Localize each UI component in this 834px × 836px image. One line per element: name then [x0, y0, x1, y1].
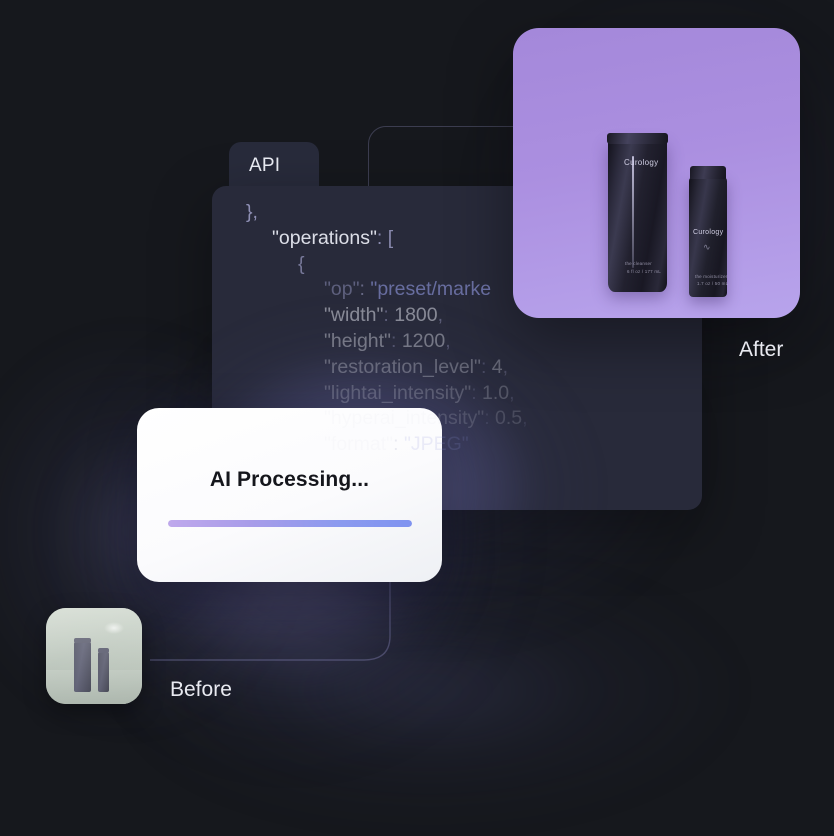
code-token-punc: ,: [522, 407, 527, 429]
code-token-punc: :: [383, 304, 394, 326]
code-line: "hyperai_intensity": 0.5,: [246, 406, 702, 432]
code-token-punc: :: [481, 356, 492, 378]
progress-bar-track: [168, 520, 412, 527]
code-token-punc: :: [391, 330, 402, 352]
ai-processing-title: AI Processing...: [210, 468, 369, 492]
tube-brand-text: Curology: [624, 158, 658, 167]
code-content: },"operations": [{"op": "preset/marke"wi…: [212, 186, 702, 458]
bottle-squiggle-mark: ∿: [703, 243, 711, 252]
code-token-num: 4: [492, 356, 503, 378]
before-thumb-haze-overlay: [46, 608, 142, 704]
code-token-num: 1200: [402, 330, 445, 352]
code-line: "restoration_level": 4,: [246, 355, 702, 381]
code-token-str: "preset/marke: [370, 278, 491, 300]
code-token-punc: {: [298, 253, 305, 275]
before-label: Before: [170, 678, 232, 702]
code-token-punc: :: [484, 407, 495, 429]
code-token-key: "hyperai_intensity": [324, 407, 484, 429]
code-token-key: "operations": [272, 227, 377, 249]
after-label: After: [739, 338, 783, 362]
code-token-punc: ,: [503, 356, 508, 378]
code-token-punc: : [: [377, 227, 393, 249]
code-line: "height": 1200,: [246, 329, 702, 355]
code-line: "op": "preset/marke: [246, 277, 702, 303]
code-token-punc: :: [360, 278, 371, 300]
code-token-num: 1.0: [482, 382, 509, 404]
tab-api-label: API: [249, 155, 280, 177]
code-line: "lightai_intensity": 1.0,: [246, 381, 702, 407]
code-token-dim: "op": [324, 278, 360, 300]
code-token-key: "lightai_intensity": [324, 382, 471, 404]
code-token-num: 0.5: [495, 407, 522, 429]
hero-illustration: API },"operations": [{"op": "preset/mark…: [0, 0, 834, 836]
code-token-num: 1800: [394, 304, 437, 326]
code-token-punc: ,: [438, 304, 443, 326]
code-token-str: "JPEG": [404, 433, 469, 455]
progress-bar-fill: [168, 520, 412, 527]
code-line: "operations": [: [246, 226, 702, 252]
before-image-thumbnail[interactable]: [46, 608, 142, 704]
code-token-punc: ,: [445, 330, 450, 352]
code-line: "format": "JPEG": [246, 432, 702, 458]
code-token-punc: :: [471, 382, 482, 404]
code-token-punc: ,: [509, 382, 514, 404]
code-token-punc: },: [246, 201, 258, 223]
tab-api[interactable]: API: [229, 142, 319, 190]
code-line: },: [246, 200, 702, 226]
code-token-key: "width": [324, 304, 383, 326]
code-line: {: [246, 252, 702, 278]
code-line: "width": 1800,: [246, 303, 702, 329]
code-token-punc: :: [393, 433, 404, 455]
code-token-key: "format": [324, 433, 393, 455]
code-token-key: "height": [324, 330, 391, 352]
code-token-key: "restoration_level": [324, 356, 481, 378]
